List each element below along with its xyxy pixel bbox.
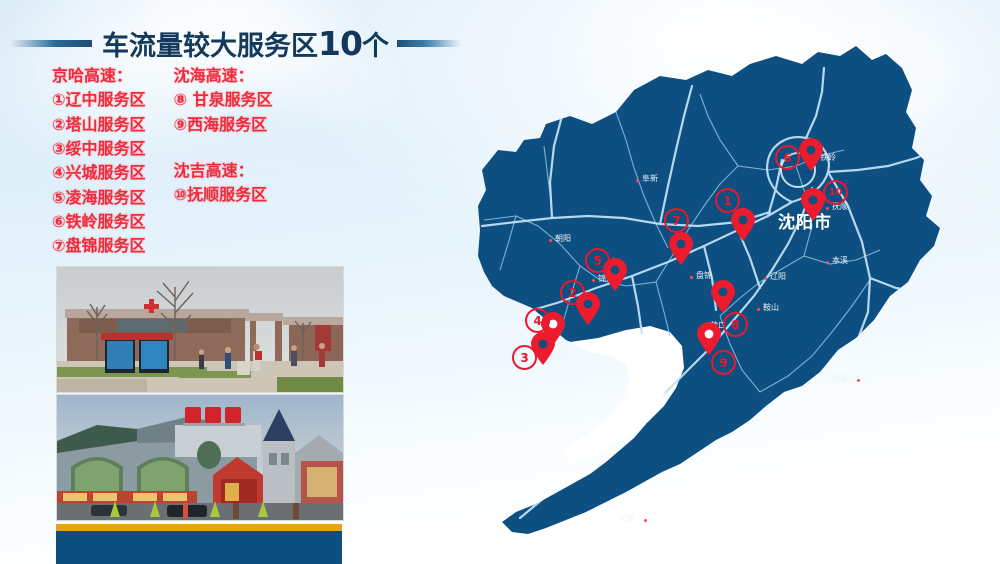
city-label-dalian: 大连: [618, 513, 634, 524]
legend-item-7[interactable]: ⑦盘锦服务区: [52, 234, 146, 258]
city-dot-dalian: [644, 519, 647, 522]
map-badge-4[interactable]: 4: [525, 308, 550, 333]
city-dot-fuxin: [636, 179, 639, 182]
legend-column-jingha: 京哈高速： ①辽中服务区 ②塔山服务区 ③绥中服务区 ④兴城服务区 ⑤凌海服务区…: [52, 64, 146, 259]
city-dot-panjin: [690, 276, 693, 279]
map-badge-2[interactable]: 2: [560, 280, 585, 305]
map-badge-5[interactable]: 5: [585, 248, 610, 273]
liaoning-province-map[interactable]: 沈阳市 朝阳 阜新 铁岭 抚顺 锦州 盘锦 辽阳 鞍山 本溪 营口 丹东 大连: [420, 20, 1000, 550]
legend-item-9[interactable]: ⑨西海服务区: [174, 113, 273, 137]
legend-item-1[interactable]: ①辽中服务区: [52, 88, 146, 112]
map-badge-9[interactable]: 9: [711, 350, 736, 375]
map-pin-8[interactable]: [710, 280, 736, 314]
map-pin-1[interactable]: [730, 208, 756, 242]
city-label-dandong: 丹东: [832, 373, 848, 384]
city-dot-jinzhou: [592, 279, 595, 282]
title-block: 车流量较大服务区10个: [10, 22, 430, 64]
map-badge-6[interactable]: 6: [775, 145, 800, 170]
legend-heading-shenhai: 沈海高速：: [174, 64, 273, 88]
title-suffix: 个: [362, 31, 389, 62]
bottom-blue-panel: [56, 531, 342, 564]
title-rule-left: [10, 40, 92, 47]
city-dot-liaoyang: [764, 277, 767, 280]
legend-item-10[interactable]: ⑩抚顺服务区: [174, 183, 273, 207]
legend-item-3[interactable]: ③绥中服务区: [52, 137, 146, 161]
slide-canvas: 车流量较大服务区10个 京哈高速： ①辽中服务区 ②塔山服务区 ③绥中服务区 ④…: [0, 0, 1000, 564]
city-label-liaoyang: 辽阳: [770, 271, 786, 282]
city-label-anshan: 鞍山: [763, 302, 779, 313]
city-label-chaoyang: 朝阳: [555, 233, 571, 244]
legend-heading-jingha: 京哈高速：: [52, 64, 146, 88]
city-dot-benxi: [826, 261, 829, 264]
legend-heading-shenji: 沈吉高速：: [174, 159, 273, 183]
title-prefix: 车流量较大服务区: [102, 31, 318, 62]
map-badge-8[interactable]: 8: [723, 312, 748, 337]
map-badge-10[interactable]: 10: [823, 180, 848, 205]
city-dot-anshan: [757, 308, 760, 311]
map-badge-3[interactable]: 3: [512, 345, 537, 370]
city-dot-chaoyang: [549, 239, 552, 242]
legend-column-shenhai-shenji: 沈海高速： ⑧ 甘泉服务区 ⑨西海服务区 沈吉高速： ⑩抚顺服务区: [172, 64, 273, 259]
legend-item-8[interactable]: ⑧ 甘泉服务区: [174, 88, 273, 112]
service-area-photo-evening: [56, 394, 344, 521]
legend-item-6[interactable]: ⑥铁岭服务区: [52, 210, 146, 234]
service-area-photo-daytime: [56, 266, 344, 393]
city-label-benxi: 本溪: [832, 255, 848, 266]
legend-spacer: [174, 137, 273, 159]
legend-item-2[interactable]: ②塔山服务区: [52, 113, 146, 137]
page-title: 车流量较大服务区10个: [102, 27, 389, 60]
legend-item-5[interactable]: ⑤凌海服务区: [52, 186, 146, 210]
map-badge-7[interactable]: 7: [664, 208, 689, 233]
city-label-fuxin: 阜新: [642, 173, 658, 184]
legend-item-4[interactable]: ④兴城服务区: [52, 161, 146, 185]
map-badge-1[interactable]: 1: [715, 188, 740, 213]
map-pin-7[interactable]: [668, 232, 694, 266]
city-dot-dandong: [857, 379, 860, 382]
service-area-legend: 京哈高速： ①辽中服务区 ②塔山服务区 ③绥中服务区 ④兴城服务区 ⑤凌海服务区…: [52, 64, 382, 259]
title-number: 10: [318, 24, 362, 63]
map-pin-6[interactable]: [798, 138, 824, 172]
bottom-accent-bar: [56, 524, 342, 531]
city-dot-fushun: [826, 207, 829, 210]
